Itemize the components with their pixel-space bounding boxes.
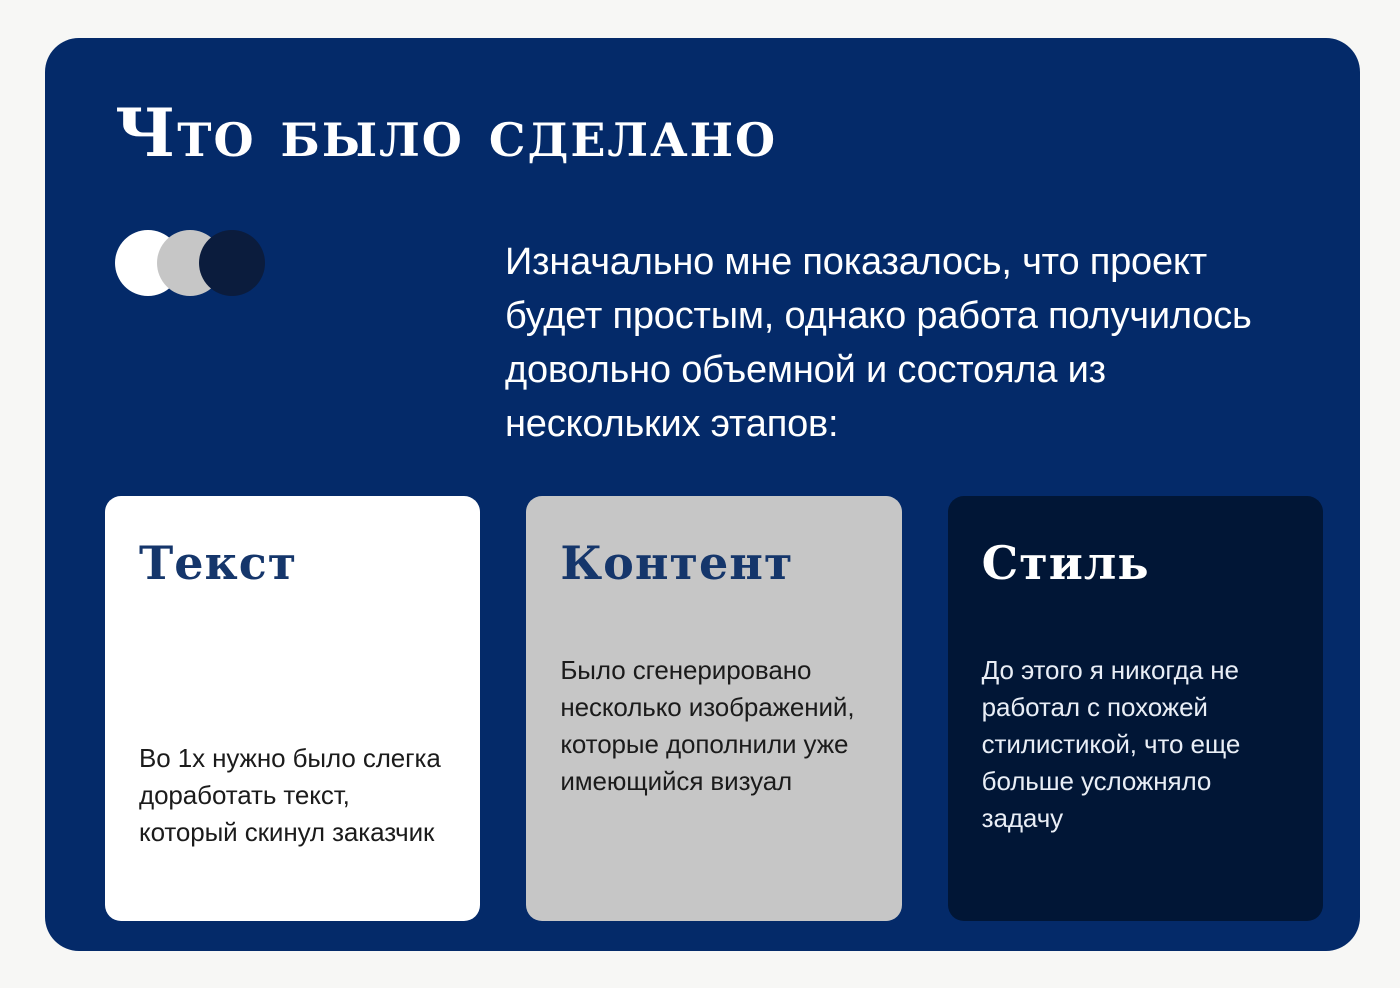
card-body: До этого я никогда не работал с похожей … [982,652,1289,837]
slide-root: Что было сделано Изначально мне показало… [0,0,1400,988]
intro-paragraph: Изначально мне показалось, что проект бу… [505,236,1305,452]
main-panel: Что было сделано Изначально мне показало… [45,38,1360,951]
page-title: Что было сделано [115,100,777,166]
card-heading: Текст [139,540,446,586]
card-tekst: Текст Во 1х нужно было слегка доработать… [105,496,480,921]
card-body: Во 1х нужно было слегка доработать текст… [139,740,446,885]
three-overlapping-circles [115,228,285,298]
card-body: Было сгенерировано несколько изображений… [560,652,867,800]
circle-icon-navy [199,230,265,296]
card-heading: Стиль [982,540,1289,586]
card-stil: Стиль До этого я никогда не работал с по… [948,496,1323,921]
card-kontent: Контент Было сгенерировано несколько изо… [526,496,901,921]
cards-row: Текст Во 1х нужно было слегка доработать… [105,496,1323,921]
card-heading: Контент [560,540,867,586]
